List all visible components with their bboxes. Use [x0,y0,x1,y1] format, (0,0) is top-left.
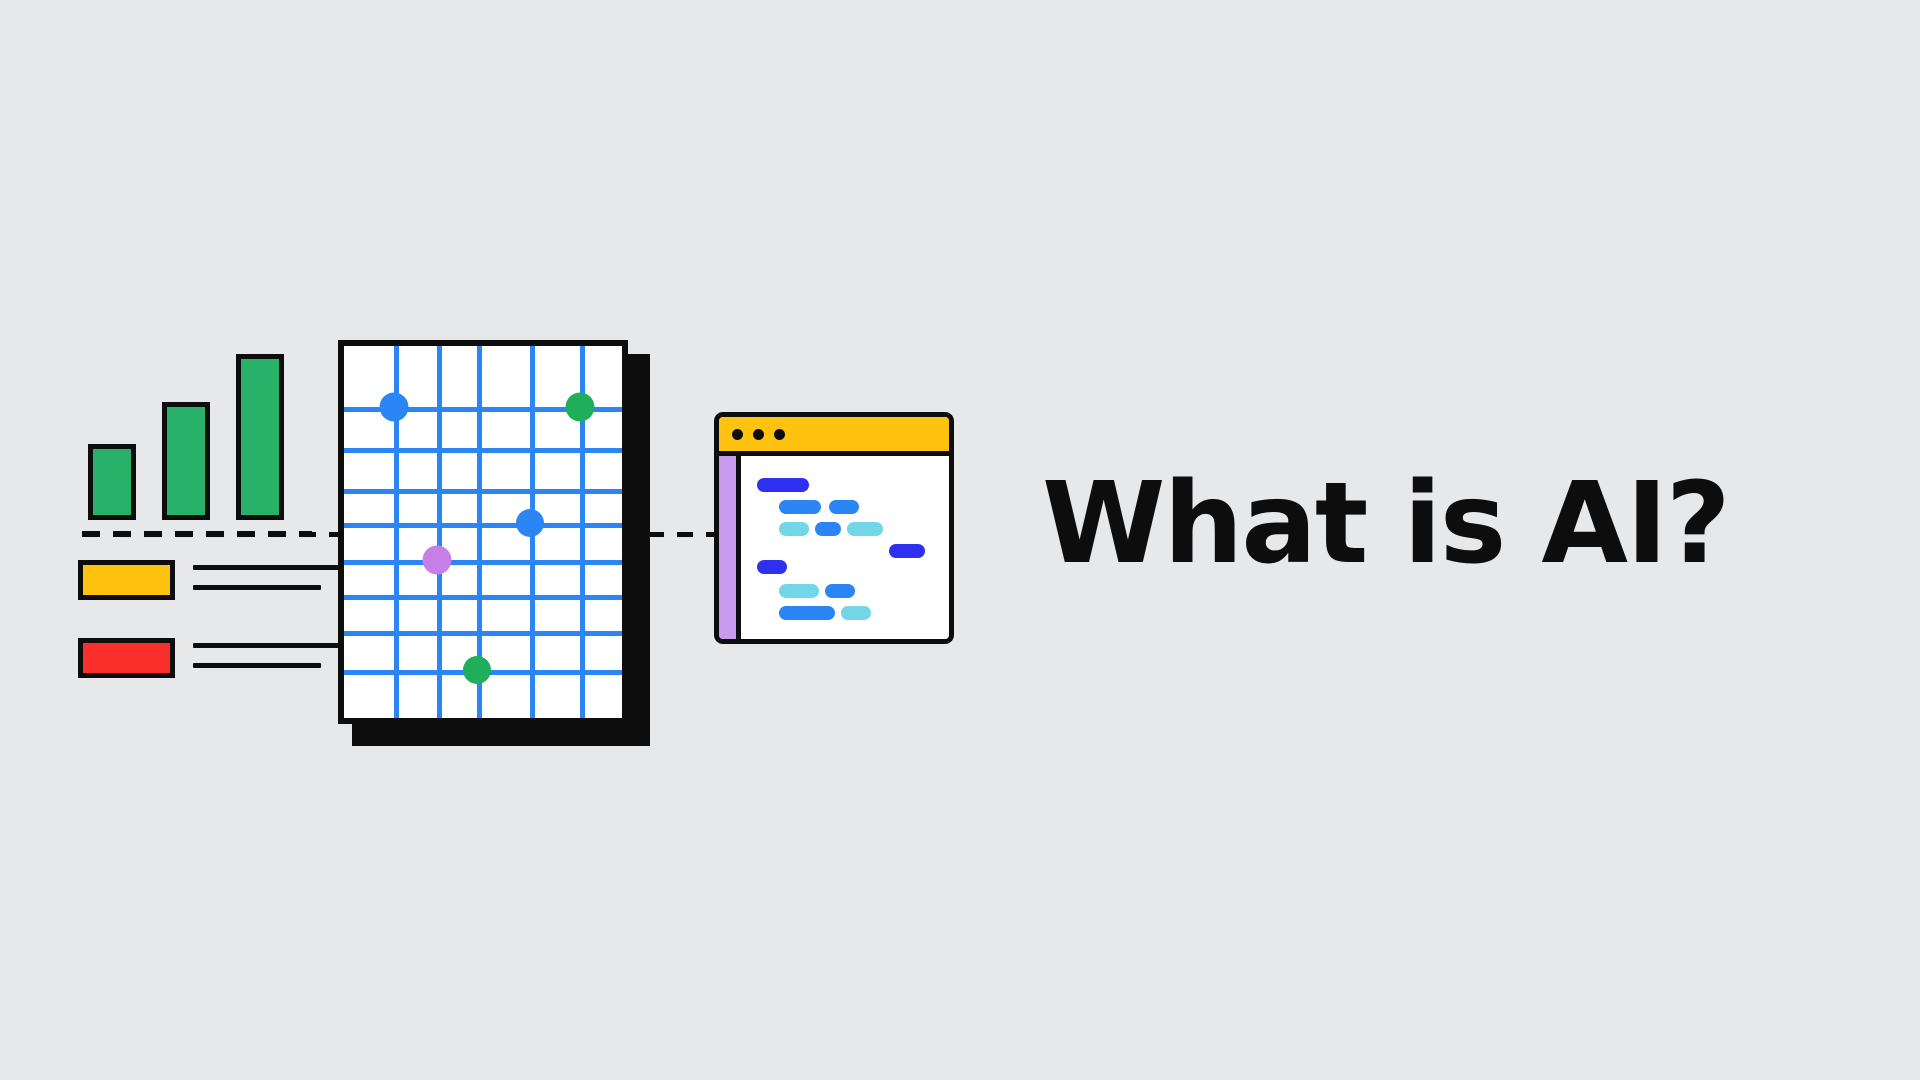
editor-sidebar [719,456,741,639]
window-close-dot-icon [732,429,743,440]
connector-right [648,532,714,537]
page-title: What is AI? [1042,468,1729,580]
editor-titlebar [719,417,949,456]
grid-line-vertical-2 [437,346,442,718]
connector-left [300,532,342,537]
code-line [741,544,949,558]
code-line [741,500,949,514]
code-token-dark [757,560,787,574]
code-token-light [779,584,819,598]
code-token-light [847,522,883,536]
scatter-plot-card [338,340,638,740]
code-line [741,584,949,598]
code-line [741,522,949,536]
window-maximize-dot-icon [774,429,785,440]
dot-green-bottom [463,656,491,684]
grid-line-horizontal-6 [344,595,622,600]
legend-line-short [193,585,321,590]
grid-line-horizontal-7 [344,631,622,636]
scatter-grid [344,346,622,718]
code-line [741,606,949,620]
code-token-mid [779,500,821,514]
legend-line-short [193,663,321,668]
grid-line-horizontal-5 [344,560,622,565]
code-token-dark [889,544,925,558]
dashed-divider [82,531,312,537]
code-token-light [841,606,871,620]
dot-green-top-right [566,393,595,422]
code-token-dark [757,478,809,492]
code-token-mid [829,500,859,514]
code-token-mid [825,584,855,598]
grid-line-horizontal-2 [344,448,622,453]
editor-code-area [741,456,949,639]
dot-blue-center [516,509,544,537]
grid-line-horizontal-3 [344,489,622,494]
grid-line-horizontal-4 [344,523,622,528]
bar-chart-bar-3 [236,354,284,520]
legend-swatch-yellow [78,560,175,600]
hero-illustration: What is AI? [0,0,1920,1080]
code-line [741,478,949,492]
code-line [741,560,949,574]
legend-swatch-red [78,638,175,678]
scatter-card-body [338,340,628,724]
bar-chart-bar-2 [162,402,210,520]
bar-chart-bar-1 [88,444,136,520]
code-token-mid [815,522,841,536]
window-minimize-dot-icon [753,429,764,440]
dot-purple-center-left [423,545,452,574]
code-token-mid [779,606,835,620]
bar-chart [78,330,298,520]
code-editor-window [714,412,954,644]
editor-frame [714,412,954,644]
dot-blue-top-left [380,393,409,422]
code-token-light [779,522,809,536]
